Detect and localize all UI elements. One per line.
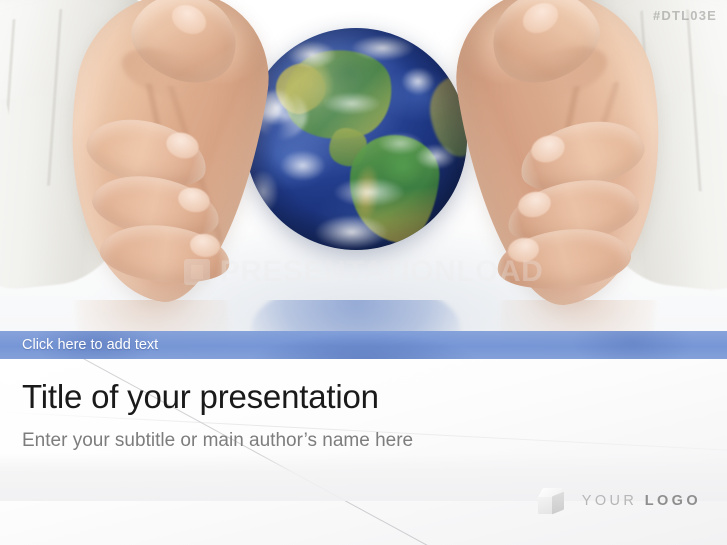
logo-placeholder[interactable]: YOUR LOGO xyxy=(538,487,701,515)
cube-right-face xyxy=(552,492,564,515)
text-placeholder-bar[interactable]: Click here to add text xyxy=(0,331,727,359)
logo-text: YOUR LOGO xyxy=(582,493,701,509)
text-placeholder-label[interactable]: Click here to add text xyxy=(22,337,158,353)
earth-globe-icon xyxy=(245,28,467,250)
watermark-text: PRESENTATIONLOAD xyxy=(220,255,544,289)
cube-logo-icon xyxy=(538,487,566,515)
hero-photo: PRESENTATIONLOAD #DTL03E xyxy=(0,0,727,331)
logo-text-bold: LOGO xyxy=(645,493,701,509)
presentation-slide: PRESENTATIONLOAD #DTL03E Click here to a… xyxy=(0,0,727,545)
logo-text-light: YOUR xyxy=(582,493,645,509)
page-title[interactable]: Title of your presentation xyxy=(22,379,379,415)
globe-limb-shading xyxy=(245,28,467,250)
cube-left-face xyxy=(538,497,553,514)
title-section: Title of your presentation Enter your su… xyxy=(0,359,727,545)
page-subtitle[interactable]: Enter your subtitle or main author’s nam… xyxy=(22,430,413,453)
